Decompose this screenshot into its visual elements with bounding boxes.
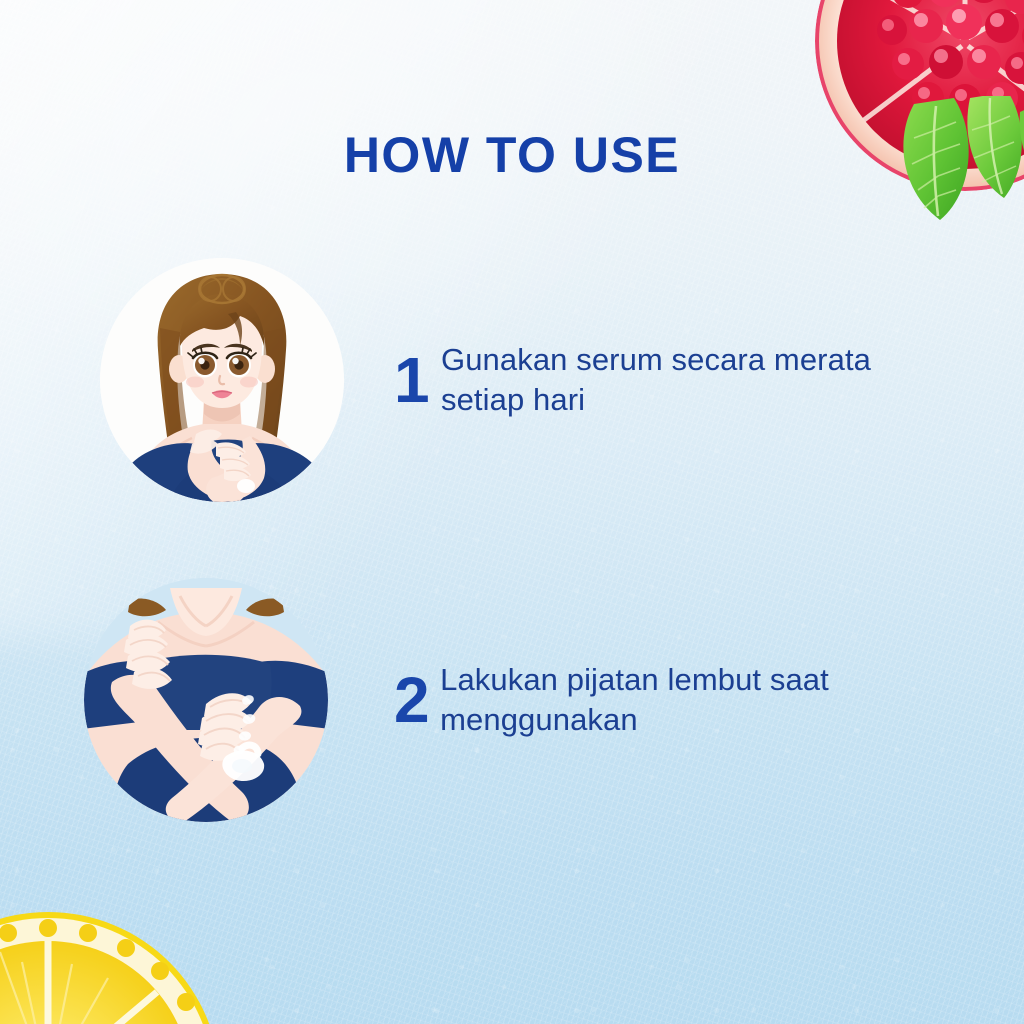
step-1-number: 1 [394, 348, 441, 412]
woman-applying-serum-illustration [100, 258, 344, 502]
step-1-text-block: 1 Gunakan serum secara merata setiap har… [394, 340, 930, 421]
step-2-description: Lakukan pijatan lembut saat menggunakan [440, 660, 930, 741]
step-1-description: Gunakan serum secara merata setiap hari [441, 340, 930, 421]
step-1-illustration [100, 258, 344, 502]
step-2-row: 2 Lakukan pijatan lembut saat menggunaka… [84, 578, 930, 822]
lemon-slice-decoration [0, 908, 224, 1024]
step-1-row: 1 Gunakan serum secara merata setiap har… [100, 258, 930, 502]
step-2-number: 2 [394, 668, 440, 732]
step-2-illustration [84, 578, 328, 822]
page-title: HOW TO USE [0, 126, 1024, 184]
step-2-text-block: 2 Lakukan pijatan lembut saat menggunaka… [394, 660, 930, 741]
woman-massaging-closeup-illustration [84, 578, 328, 822]
how-to-use-infographic: HOW TO USE [0, 0, 1024, 1024]
